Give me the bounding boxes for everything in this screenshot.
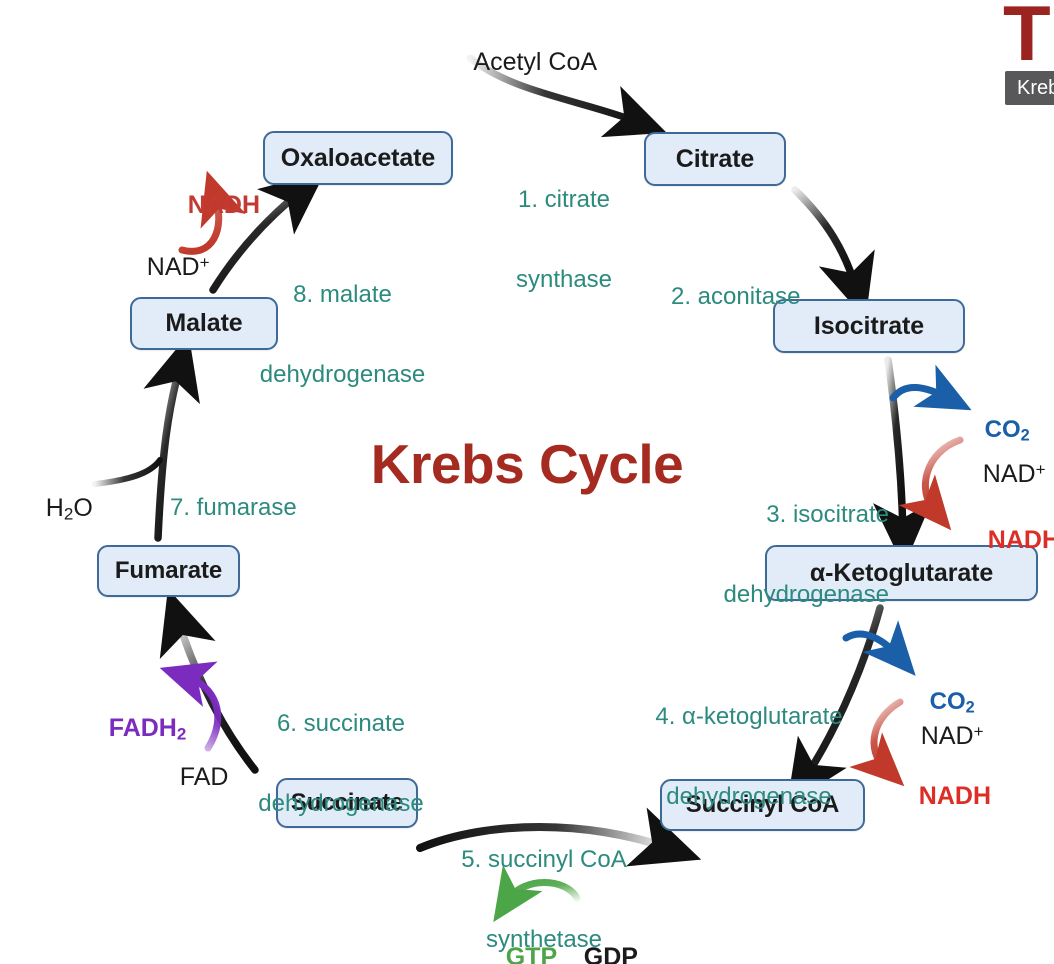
- arrow-step3-co2: [893, 387, 948, 398]
- enzyme-line-1: 3. isocitrate: [703, 502, 889, 529]
- label-nad-plus-step-8: NAD+: [119, 225, 210, 309]
- enzyme-label-step-1: 1. citrate synthase: [489, 133, 639, 348]
- arrow-step3-isocitrate-to-ketoglutarate: [888, 360, 903, 534]
- enzyme-label-step-3: 3. isocitrate dehydrogenase: [703, 448, 889, 663]
- enzyme-label-step-2: 2. aconitase: [671, 230, 800, 364]
- gtp-text: GTP: [506, 943, 557, 964]
- enzyme-line-1: 7. fumarase: [170, 495, 297, 522]
- metabolite-box-citrate[interactable]: Citrate: [644, 132, 786, 186]
- enzyme-label-step-8: 8. malate dehydrogenase: [255, 228, 430, 443]
- metabolite-box-isocitrate[interactable]: Isocitrate: [773, 299, 965, 353]
- enzyme-line-2: dehydrogenase: [251, 791, 431, 818]
- tooltip-krebs: Krebs: [1005, 71, 1054, 105]
- metabolite-label: Malate: [165, 309, 242, 338]
- metabolite-label: Isocitrate: [814, 312, 924, 341]
- enzyme-line-1: 1. citrate: [489, 187, 639, 214]
- label-h2o: H2O: [18, 466, 93, 552]
- enzyme-line-1: 5. succinyl CoA: [451, 847, 637, 874]
- metabolite-label: Citrate: [676, 145, 755, 174]
- enzyme-line-2: dehydrogenase: [703, 582, 889, 609]
- corner-logo-letter: T: [1003, 0, 1051, 72]
- arrow-h2o-in: [95, 460, 160, 484]
- enzyme-line-1: 4. α-ketoglutarate: [645, 704, 853, 731]
- label-nadh-step-3: NADH: [960, 498, 1054, 582]
- gdp-text: GDP: [584, 943, 638, 964]
- nad-text: NAD: [147, 253, 200, 281]
- enzyme-line-1: 6. succinate: [251, 711, 431, 738]
- nad-text: NAD: [921, 722, 974, 750]
- metabolite-label: Oxaloacetate: [281, 144, 435, 173]
- enzyme-label-step-7: 7. fumarase: [170, 441, 297, 575]
- enzyme-line-2: synthase: [489, 267, 639, 294]
- nad-text: NAD: [983, 460, 1036, 488]
- enzyme-line-1: 2. aconitase: [671, 284, 800, 311]
- nadh-text: NADH: [188, 191, 260, 219]
- label-nadh-step-4: NADH: [891, 754, 991, 838]
- enzyme-line-2: dehydrogenase: [645, 784, 853, 811]
- enzyme-label-step-4: 4. α-ketoglutarate dehydrogenase: [645, 650, 853, 865]
- enzyme-line-2: dehydrogenase: [255, 362, 430, 389]
- metabolite-box-oxaloacetate[interactable]: Oxaloacetate: [263, 131, 453, 185]
- enzyme-line-1: 8. malate: [255, 282, 430, 309]
- acetyl-coa-text: Acetyl CoA: [473, 48, 597, 76]
- enzyme-label-step-6: 6. succinate dehydrogenase: [251, 657, 431, 872]
- krebs-cycle-diagram: Oxaloacetate Citrate Isocitrate α-Ketogl…: [0, 0, 1054, 964]
- nadh-text: NADH: [988, 526, 1054, 554]
- label-fad: FAD: [152, 735, 228, 819]
- page-title: Krebs Cycle: [357, 432, 697, 496]
- nadh-text: NADH: [919, 782, 991, 810]
- arrow-step2-citrate-to-isocitrate: [795, 190, 856, 288]
- label-gdp: GDP: [556, 915, 638, 964]
- fad-text: FAD: [180, 763, 229, 791]
- label-gtp: GTP: [478, 915, 557, 964]
- label-acetyl-coa: Acetyl CoA: [447, 20, 597, 104]
